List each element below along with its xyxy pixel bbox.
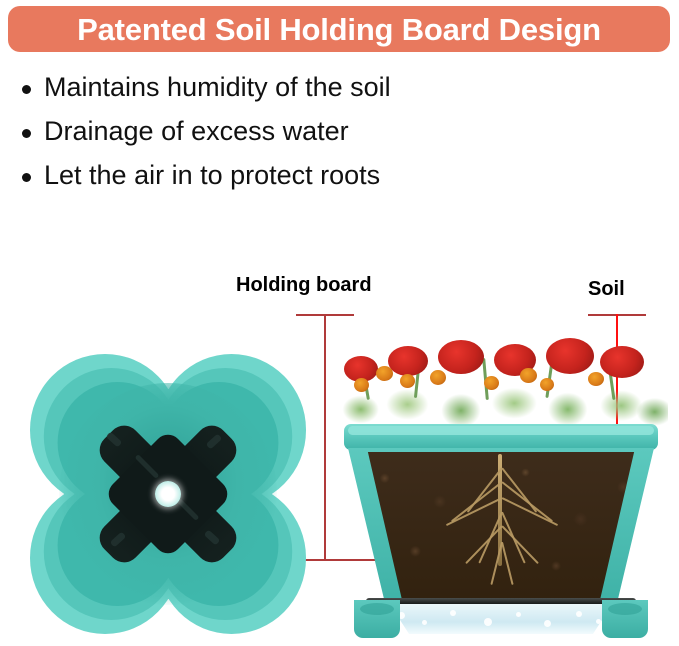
water-reservoir: [380, 604, 622, 634]
root: [501, 542, 514, 585]
planter-top-view-image: [24, 348, 312, 640]
bullet-dot-icon: [22, 85, 31, 94]
list-item: Maintains humidity of the soil: [22, 72, 662, 104]
page-title: Patented Soil Holding Board Design: [77, 14, 601, 45]
leader-line-holding-board: [324, 314, 326, 560]
flower-bloom-small: [540, 378, 554, 391]
annotation-label-soil: Soil: [588, 278, 625, 301]
flower-bloom-small: [484, 376, 499, 390]
list-item: Drainage of excess water: [22, 116, 662, 148]
flower-bloom-small: [430, 370, 446, 385]
flower-bloom-small: [354, 378, 369, 392]
plants-group: [334, 332, 668, 428]
planter-foot-left: [354, 600, 400, 638]
flower-bloom-small: [520, 368, 537, 383]
holding-board-top-view: [80, 406, 256, 582]
header-banner: Patented Soil Holding Board Design: [8, 6, 670, 52]
flower-bloom: [388, 346, 428, 376]
feature-text: Maintains humidity of the soil: [44, 72, 391, 104]
planter-foot-right: [602, 600, 648, 638]
flower-bloom: [600, 346, 644, 378]
flower-bloom-small: [588, 372, 604, 386]
planter-body: [348, 448, 654, 602]
flower-bloom-small: [376, 366, 393, 381]
bullet-dot-icon: [22, 129, 31, 138]
planter-cross-section-image: [344, 332, 658, 642]
bullet-dot-icon: [22, 173, 31, 182]
flower-bloom-small: [400, 374, 415, 388]
feature-list: Maintains humidity of the soil Drainage …: [22, 72, 662, 204]
annotation-label-holding-board: Holding board: [236, 274, 372, 297]
planter-rim-highlight: [348, 426, 654, 435]
list-item: Let the air in to protect roots: [22, 160, 662, 192]
feature-text: Let the air in to protect roots: [44, 160, 380, 192]
flower-bloom: [546, 338, 594, 374]
feature-text: Drainage of excess water: [44, 116, 349, 148]
flower-bloom: [438, 340, 484, 374]
drainage-hole: [155, 481, 181, 507]
product-diagram: Holding board Soil Water: [0, 236, 679, 646]
